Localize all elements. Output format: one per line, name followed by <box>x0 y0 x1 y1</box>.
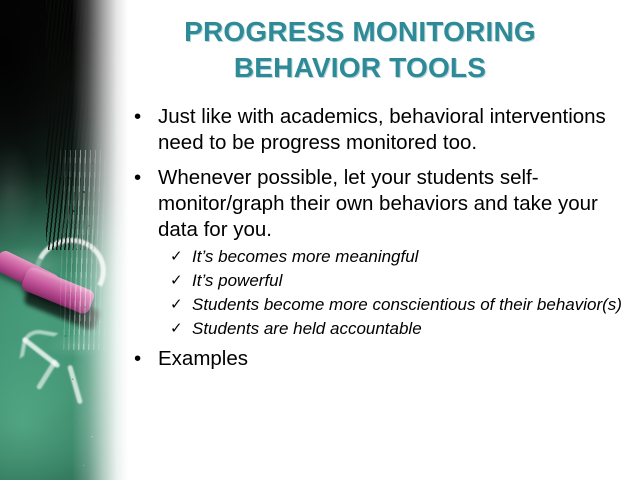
slide-title: PROGRESS MONITORING BEHAVIOR TOOLS <box>140 14 580 86</box>
bullet-dot-icon: • <box>134 104 141 130</box>
list-item: • Just like with academics, behavioral i… <box>128 104 628 156</box>
sub-bullet-text: It’s becomes more meaningful <box>192 247 418 266</box>
bullet-text: Just like with academics, behavioral int… <box>158 105 606 154</box>
check-icon: ✓ <box>170 246 183 268</box>
sub-list-item: ✓ It’s powerful <box>170 270 628 292</box>
sub-bullet-text: Students are held accountable <box>192 319 422 338</box>
bullet-dot-icon: • <box>134 165 141 191</box>
bullet-list: • Just like with academics, behavioral i… <box>128 104 628 372</box>
list-item: • Examples <box>128 346 628 372</box>
slide-title-line-1: PROGRESS MONITORING <box>140 14 580 50</box>
slide: PROGRESS MONITORING BEHAVIOR TOOLS • Jus… <box>0 0 640 480</box>
bullet-text: Whenever possible, let your students sel… <box>158 166 598 241</box>
bullet-text: Examples <box>158 347 248 370</box>
sub-bullet-text: It’s powerful <box>192 271 282 290</box>
chalkboard-photo <box>0 0 128 480</box>
list-item: • Whenever possible, let your students s… <box>128 165 628 340</box>
check-icon: ✓ <box>170 270 183 292</box>
slide-body: • Just like with academics, behavioral i… <box>128 104 628 381</box>
bullet-dot-icon: • <box>134 346 141 372</box>
slide-title-line-2: BEHAVIOR TOOLS <box>140 50 580 86</box>
sub-bullet-text: Students become more conscientious of th… <box>192 295 622 314</box>
check-icon: ✓ <box>170 318 183 340</box>
photo-edge-fade <box>72 0 128 480</box>
check-icon: ✓ <box>170 294 183 316</box>
sub-list-item: ✓ It’s becomes more meaningful <box>170 246 628 268</box>
sub-list-item: ✓ Students are held accountable <box>170 318 628 340</box>
sub-list-item: ✓ Students become more conscientious of … <box>170 294 628 316</box>
sub-bullet-list: ✓ It’s becomes more meaningful ✓ It’s po… <box>158 246 628 340</box>
